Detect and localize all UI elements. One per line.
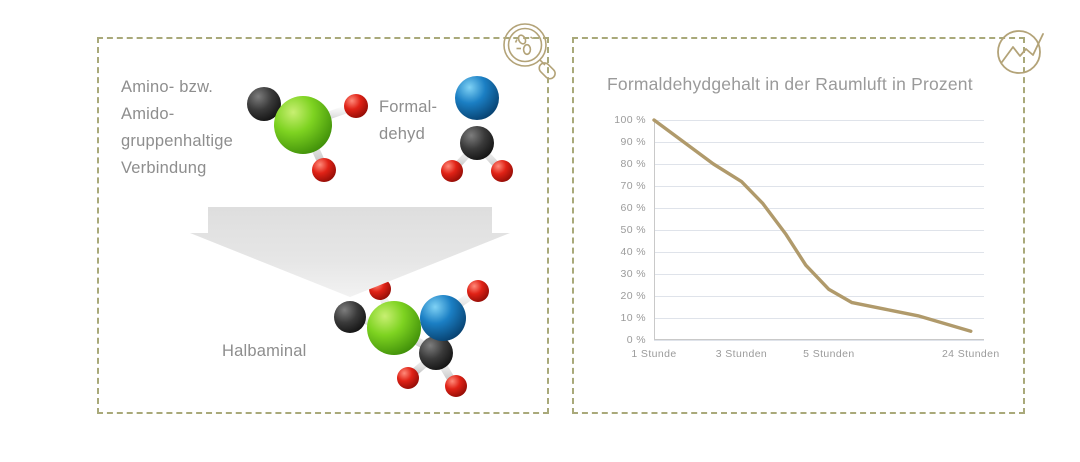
down-arrow-shape (190, 205, 510, 297)
y-axis-tick: 50 % (600, 224, 646, 236)
y-axis-tick: 100 % (600, 114, 646, 126)
gridline (654, 340, 984, 341)
y-axis-tick: 20 % (600, 290, 646, 302)
line-chart: 100 %90 %80 %70 %60 %50 %40 %30 %20 %10 … (600, 120, 1000, 380)
x-axis-tick: 1 Stunde (631, 348, 676, 360)
amine-molecule (232, 82, 392, 192)
y-axis-tick: 0 % (600, 334, 646, 346)
canvas: Amino- bzw. Amido- gruppenhaltige Verbin… (0, 0, 1080, 462)
x-axis-tick: 5 Stunden (803, 348, 854, 360)
x-axis-tick: 3 Stunden (716, 348, 767, 360)
y-axis-tick: 60 % (600, 202, 646, 214)
y-axis-tick: 80 % (600, 158, 646, 170)
x-axis-tick: 24 Stunden (942, 348, 1000, 360)
y-axis-labels: 100 %90 %80 %70 %60 %50 %40 %30 %20 %10 … (600, 120, 646, 340)
y-axis-tick: 90 % (600, 136, 646, 148)
y-axis-tick: 40 % (600, 246, 646, 258)
trend-chart-circle-icon (991, 20, 1053, 82)
label-halbaminal: Halbaminal (222, 338, 342, 365)
y-axis-tick: 10 % (600, 312, 646, 324)
y-axis-tick: 70 % (600, 180, 646, 192)
y-axis-tick: 30 % (600, 268, 646, 280)
x-axis-labels: 1 Stunde3 Stunden5 Stunden24 Stunden (654, 348, 984, 368)
data-line (654, 120, 984, 340)
formaldehyde-molecule (437, 70, 517, 188)
plot-area (654, 120, 984, 340)
chart-title: Formaldehydgehalt in der Raumluft in Pro… (607, 74, 973, 95)
